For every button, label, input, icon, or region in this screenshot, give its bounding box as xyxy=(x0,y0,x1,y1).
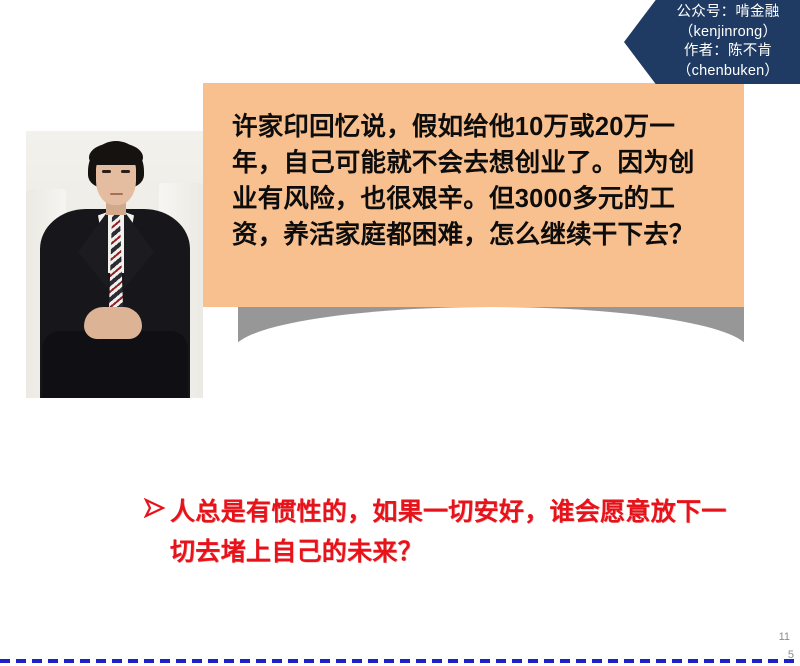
page-number-partial: 5 xyxy=(788,649,794,658)
photo-hair-fringe xyxy=(89,143,143,165)
channel-banner-text: 公众号：啃金融 （kenjinrong） 作者：陈不肯 （chenbuken） xyxy=(656,3,800,81)
photo-clasped-hands xyxy=(84,307,142,339)
bottom-divider xyxy=(0,659,800,663)
callout-box: 许家印回忆说，假如给他10万或20万一年，自己可能就不会去想创业了。因为创业有风… xyxy=(203,83,744,307)
photo-lap xyxy=(42,331,188,398)
photo-eye-right xyxy=(121,170,130,173)
photo-eye-left xyxy=(102,170,111,173)
banner-line-author: 作者：陈不肯 xyxy=(656,42,800,62)
banner-line-account-id: （kenjinrong） xyxy=(656,23,800,43)
photo-mouth xyxy=(110,193,123,195)
page-number: 11 xyxy=(779,631,790,643)
callout-text: 许家印回忆说，假如给他10万或20万一年，自己可能就不会去想创业了。因为创业有风… xyxy=(232,109,720,253)
conclusion-text: 人总是有惯性的，如果一切安好，谁会愿意放下一切去堵上自己的未来？ xyxy=(170,492,744,572)
slide-canvas: 许家印回忆说，假如给他10万或20万一年，自己可能就不会去想创业了。因为创业有风… xyxy=(0,0,800,666)
banner-line-account: 公众号：啃金融 xyxy=(656,3,800,23)
channel-banner: 公众号：啃金融 （kenjinrong） 作者：陈不肯 （chenbuken） xyxy=(624,0,800,84)
portrait-photo xyxy=(26,131,203,398)
banner-line-author-id: （chenbuken） xyxy=(656,62,800,82)
conclusion-block: 人总是有惯性的，如果一切安好，谁会愿意放下一切去堵上自己的未来？ xyxy=(144,492,744,572)
triangle-right-icon xyxy=(144,498,170,528)
